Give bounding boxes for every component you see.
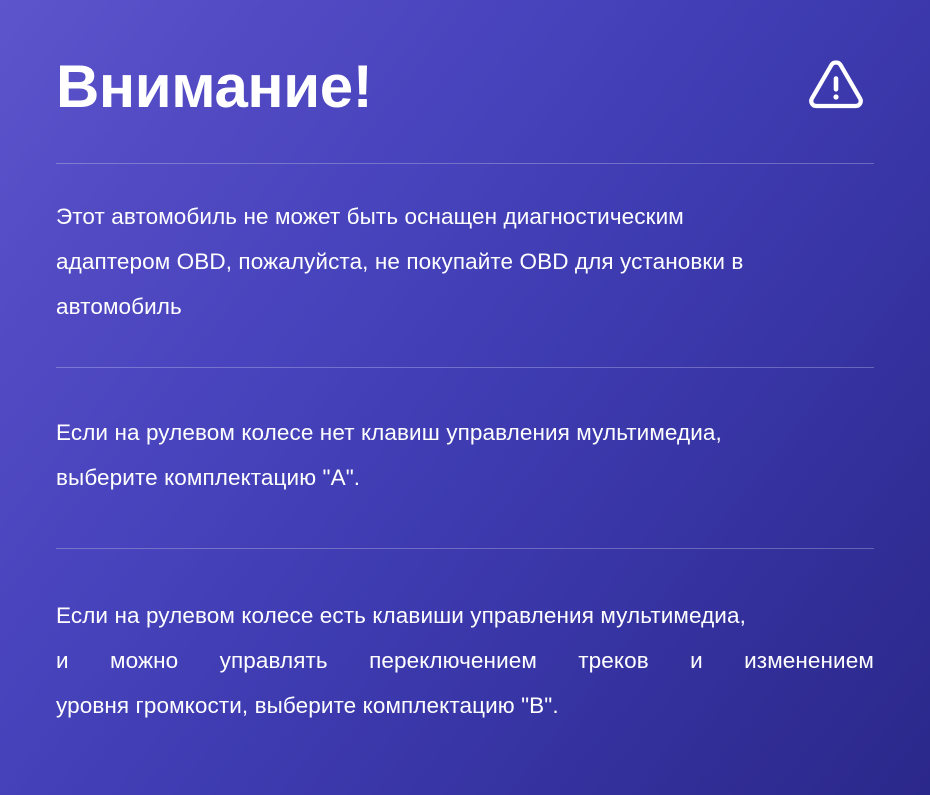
section-variant-b: Если на рулевом колесе есть клавиши упра… [56, 549, 874, 728]
poster-header: Внимание! [56, 0, 874, 163]
page-title: Внимание! [56, 53, 372, 117]
section-line: адаптером OBD, пожалуйста, не покупайте … [56, 239, 874, 284]
section-line: автомобиль [56, 284, 874, 329]
section-line: иможноуправлятьпереключениемтрековиизмен… [56, 638, 874, 683]
section-line: Этот автомобиль не может быть оснащен ди… [56, 194, 874, 239]
section-line: уровня громкости, выберите комплектацию … [56, 683, 874, 728]
section-obd-warning: Этот автомобиль не может быть оснащен ди… [56, 164, 874, 367]
warning-triangle-icon [804, 53, 874, 117]
section-line: выберите комплектацию "A". [56, 455, 874, 500]
section-line: Если на рулевом колесе есть клавиши упра… [56, 593, 874, 638]
section-line: Если на рулевом колесе нет клавиш управл… [56, 410, 874, 455]
section-variant-a: Если на рулевом колесе нет клавиш управл… [56, 368, 874, 548]
warning-poster: Внимание! Этот автомобиль не может быть … [0, 0, 930, 795]
